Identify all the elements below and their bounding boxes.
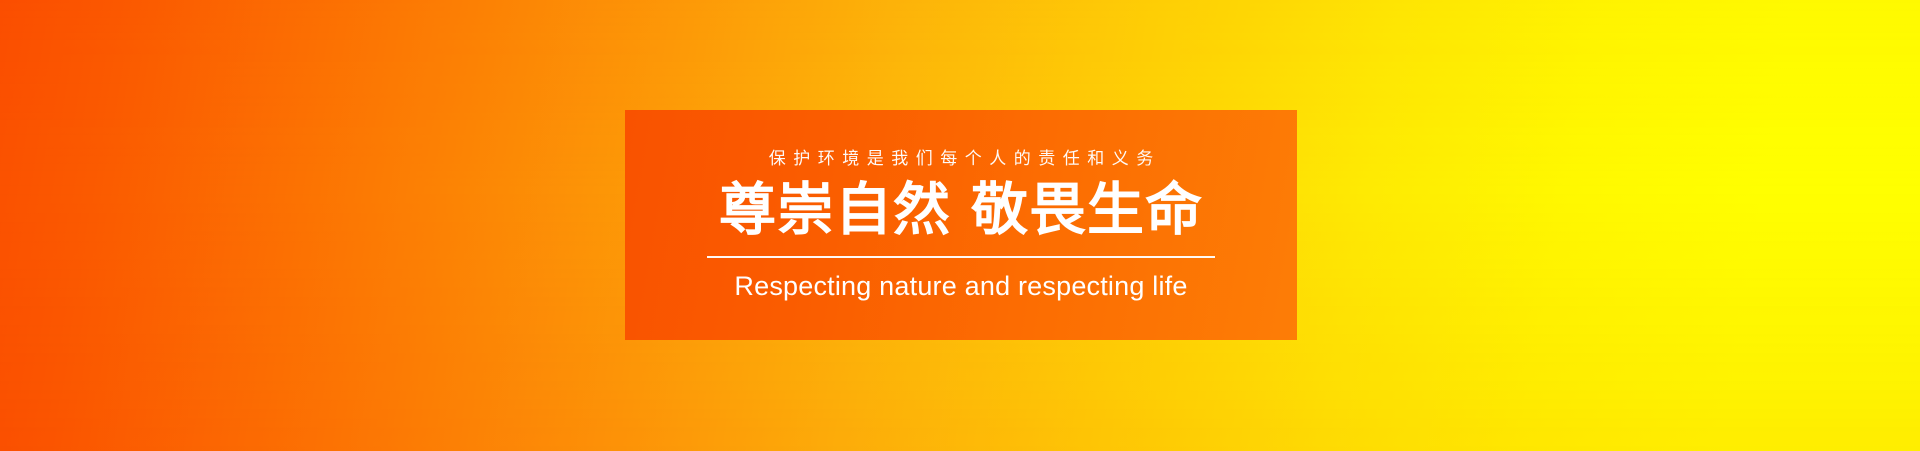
banner-divider-rule: [707, 256, 1215, 258]
banner-headline-part-1: 尊崇自然: [719, 178, 951, 242]
banner-eyebrow-text: 保护环境是我们每个人的责任和义务: [761, 150, 1161, 167]
banner-content-stack: 保护环境是我们每个人的责任和义务 尊崇自然敬畏生命 Respecting nat…: [625, 150, 1297, 300]
banner-headline-part-2: 敬畏生命: [971, 178, 1203, 242]
banner-headline: 尊崇自然敬畏生命: [719, 181, 1203, 239]
banner-subtitle-text: Respecting nature and respecting life: [734, 272, 1187, 300]
banner-content-panel: 保护环境是我们每个人的责任和义务 尊崇自然敬畏生命 Respecting nat…: [625, 110, 1297, 340]
promo-banner: 保护环境是我们每个人的责任和义务 尊崇自然敬畏生命 Respecting nat…: [0, 0, 1920, 451]
